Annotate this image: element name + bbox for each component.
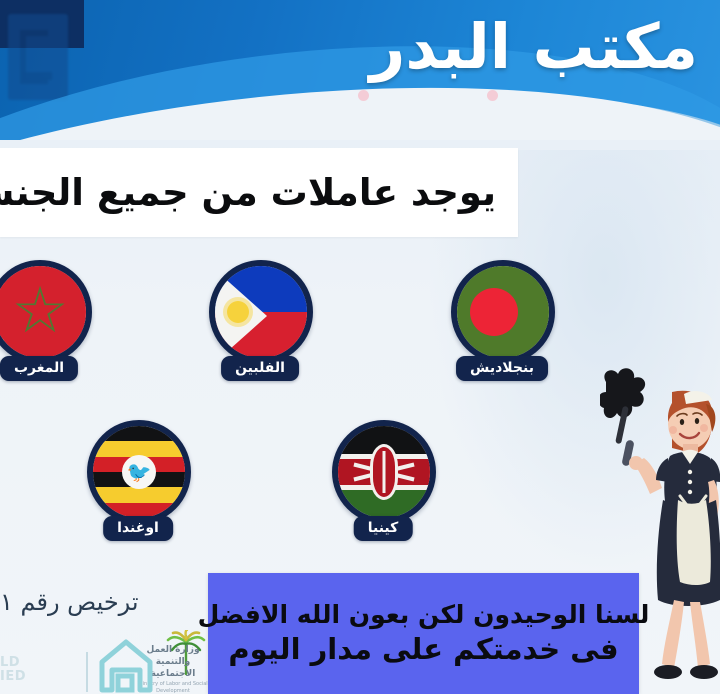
- cta-banner: لسنا الوحيدون لكن بعون الله الافضل فى خد…: [208, 573, 639, 694]
- page-title: مكتب البدر: [370, 8, 698, 86]
- header-logo-watermark: [8, 14, 68, 100]
- ministry-name-line-2: والتنمية الاجتماعية: [151, 657, 196, 679]
- partner-corner-logo-text: LD IED: [0, 656, 26, 683]
- headline-banner: يوجد عاملات من جميع الجنسيات: [0, 148, 518, 237]
- flag-badge-bangladesh[interactable]: بنجلاديش: [449, 260, 555, 364]
- morocco-star-icon: ☆: [11, 283, 69, 341]
- morocco-flag-icon: ☆: [0, 260, 92, 364]
- corner-logo-divider: [86, 652, 88, 692]
- flag-label-morocco: المغرب: [0, 356, 78, 381]
- license-number-text: ترخيص رقم ١: [0, 588, 206, 616]
- house-logo-icon: [96, 636, 156, 694]
- decorative-dot-1: [358, 90, 369, 101]
- flag-badge-morocco[interactable]: ☆ المغرب: [0, 260, 92, 364]
- bangladesh-flag-icon: [451, 260, 555, 364]
- partner-corner-logo: LD IED: [0, 648, 66, 694]
- partner-logo-line-2: IED: [0, 669, 26, 684]
- uganda-crane-icon: 🐦: [122, 455, 156, 489]
- headline-text: يوجد عاملات من جميع الجنسيات: [0, 174, 518, 211]
- philippines-sun-icon: [227, 301, 249, 323]
- cta-line-2: فى خدمتكم على مدار اليوم: [228, 634, 618, 666]
- cta-line-1: لسنا الوحيدون لكن بعون الله الافضل: [198, 601, 650, 629]
- flag-label-kenya: كينيا: [354, 516, 413, 541]
- poster-canvas: مكتب البدر يوجد عاملات من جميع الجنسيات …: [0, 0, 720, 694]
- flag-badge-uganda[interactable]: 🐦 اوغندا: [85, 420, 191, 524]
- flag-label-bangladesh: بنجلاديش: [456, 356, 548, 381]
- flag-label-philippines: الفلبين: [221, 356, 299, 381]
- philippines-flag-icon: [209, 260, 313, 364]
- bangladesh-disc-icon: [470, 288, 518, 336]
- flag-badge-kenya[interactable]: كينيا: [330, 420, 436, 524]
- kenya-shield-icon: [370, 444, 398, 500]
- flag-badge-philippines[interactable]: الفلبين: [207, 260, 313, 364]
- feather-duster-icon: [600, 368, 645, 466]
- poster-header: مكتب البدر: [0, 0, 720, 160]
- flag-label-uganda: اوغندا: [103, 516, 173, 541]
- decorative-dot-2: [487, 90, 498, 101]
- uganda-flag-icon: 🐦: [87, 420, 191, 524]
- kenya-flag-icon: [332, 420, 436, 524]
